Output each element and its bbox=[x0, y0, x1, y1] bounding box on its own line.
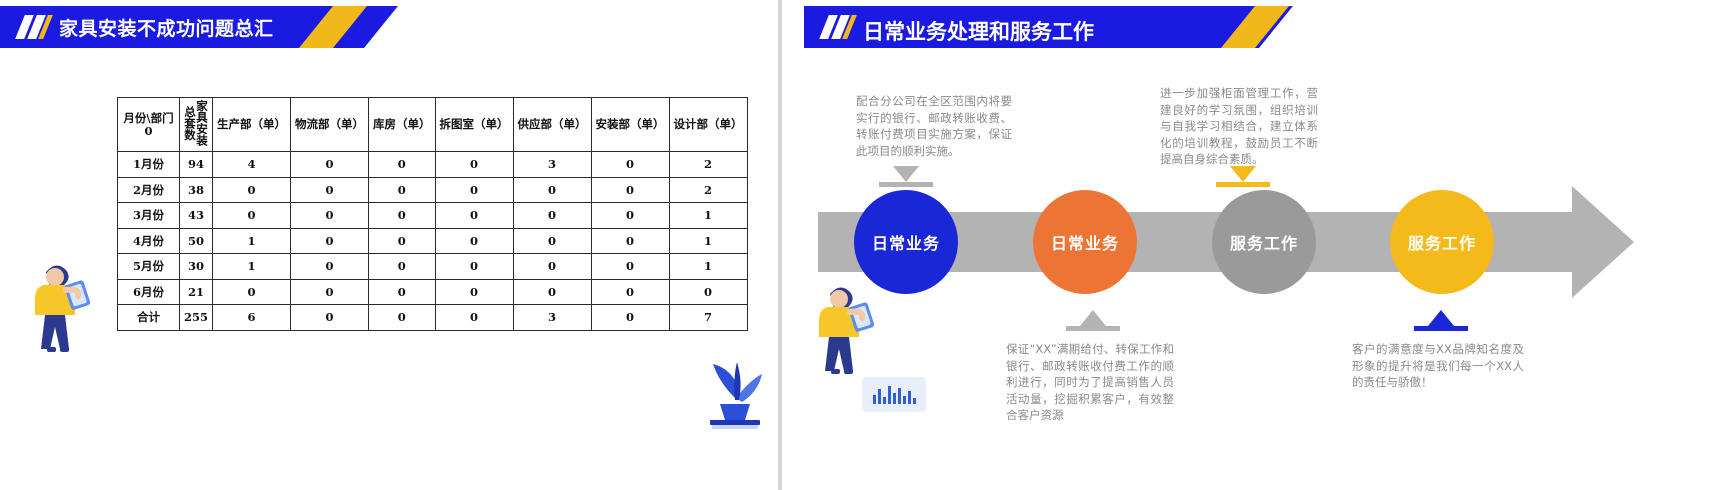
cell-production: 0 bbox=[213, 203, 291, 229]
cell-production: 0 bbox=[213, 279, 291, 305]
table-row: 4月份 50 1 0 0 0 0 0 1 bbox=[118, 228, 748, 254]
timeline-arrow-head bbox=[1572, 186, 1634, 298]
cell-logistics: 0 bbox=[291, 152, 369, 178]
cell-drafting: 0 bbox=[435, 254, 513, 280]
cell-drafting: 0 bbox=[435, 228, 513, 254]
slide-right: 日常业务处理和服务工作 日常业务 日常业务 服务工作 服务工作 配合分公司在全区… bbox=[778, 0, 1720, 490]
bar-chart-widget-icon bbox=[862, 377, 926, 412]
timeline-step-2-label: 日常业务 bbox=[1051, 230, 1119, 254]
cell-warehouse: 0 bbox=[369, 254, 436, 280]
cell-logistics: 0 bbox=[291, 305, 369, 331]
timeline-step-3-label: 服务工作 bbox=[1230, 230, 1298, 254]
cell-design: 2 bbox=[669, 177, 747, 203]
timeline-step-4-label: 服务工作 bbox=[1408, 230, 1476, 254]
timeline-step-1-label: 日常业务 bbox=[872, 230, 940, 254]
cell-production: 6 bbox=[213, 305, 291, 331]
furniture-issue-table: 月份\部门0 家具安装总套数 生产部（单） 物流部（单） 库房（单） 拆图室（单… bbox=[117, 97, 748, 331]
cell-supply: 0 bbox=[513, 254, 591, 280]
cell-total: 94 bbox=[180, 152, 213, 178]
cell-supply: 0 bbox=[513, 228, 591, 254]
row-label: 3月份 bbox=[118, 203, 180, 229]
cell-total: 50 bbox=[180, 228, 213, 254]
connector-step-1 bbox=[879, 166, 933, 187]
timeline-step-4[interactable]: 服务工作 bbox=[1390, 190, 1494, 294]
cell-supply: 0 bbox=[513, 203, 591, 229]
cell-production: 1 bbox=[213, 254, 291, 280]
cell-total: 43 bbox=[180, 203, 213, 229]
cell-drafting: 0 bbox=[435, 177, 513, 203]
timeline-step-2[interactable]: 日常业务 bbox=[1033, 190, 1137, 294]
row-label: 5月份 bbox=[118, 254, 180, 280]
cell-logistics: 0 bbox=[291, 177, 369, 203]
row-label: 2月份 bbox=[118, 177, 180, 203]
cell-installation: 0 bbox=[591, 305, 669, 331]
cell-warehouse: 0 bbox=[369, 305, 436, 331]
slide-left-title: 家具安装不成功问题总汇 bbox=[59, 14, 274, 41]
double-slash-logo-icon bbox=[18, 15, 52, 39]
connector-step-4 bbox=[1414, 310, 1468, 331]
th-total-sets: 家具安装总套数 bbox=[180, 98, 213, 152]
th-month-dept: 月份\部门0 bbox=[118, 98, 180, 152]
double-slash-logo-icon bbox=[822, 15, 856, 39]
cell-logistics: 0 bbox=[291, 228, 369, 254]
cell-design: 1 bbox=[669, 254, 747, 280]
potted-plant-illustration bbox=[700, 352, 770, 430]
note-bottom-left: 保证“XX”满期给付、转保工作和银行、邮政转账收付费工作的顺利进行，同时为了提高… bbox=[1006, 341, 1174, 424]
person-with-tablet-illustration bbox=[800, 274, 878, 394]
cell-installation: 0 bbox=[591, 279, 669, 305]
cell-drafting: 0 bbox=[435, 203, 513, 229]
row-label: 6月份 bbox=[118, 279, 180, 305]
timeline-step-3[interactable]: 服务工作 bbox=[1212, 190, 1316, 294]
cell-warehouse: 0 bbox=[369, 228, 436, 254]
cell-design: 7 bbox=[669, 305, 747, 331]
th-design: 设计部（单） bbox=[669, 98, 747, 152]
th-supply: 供应部（单） bbox=[513, 98, 591, 152]
cell-design: 0 bbox=[669, 279, 747, 305]
cell-drafting: 0 bbox=[435, 279, 513, 305]
cell-design: 1 bbox=[669, 228, 747, 254]
cell-supply: 3 bbox=[513, 152, 591, 178]
th-drafting: 拆图室（单） bbox=[435, 98, 513, 152]
cell-total: 30 bbox=[180, 254, 213, 280]
cell-installation: 0 bbox=[591, 203, 669, 229]
cell-logistics: 0 bbox=[291, 254, 369, 280]
cell-warehouse: 0 bbox=[369, 177, 436, 203]
note-top-right: 进一步加强柜面管理工作，营建良好的学习氛围，组织培训与自我学习相结合，建立体系化… bbox=[1160, 85, 1318, 168]
cell-total: 21 bbox=[180, 279, 213, 305]
cell-production: 0 bbox=[213, 177, 291, 203]
cell-total: 255 bbox=[180, 305, 213, 331]
cell-logistics: 0 bbox=[291, 203, 369, 229]
table-header-row: 月份\部门0 家具安装总套数 生产部（单） 物流部（单） 库房（单） 拆图室（单… bbox=[118, 98, 748, 152]
cell-supply: 0 bbox=[513, 177, 591, 203]
cell-installation: 0 bbox=[591, 228, 669, 254]
th-warehouse: 库房（单） bbox=[369, 98, 436, 152]
cell-design: 2 bbox=[669, 152, 747, 178]
slide-right-title: 日常业务处理和服务工作 bbox=[863, 17, 1163, 47]
cell-installation: 0 bbox=[591, 177, 669, 203]
slide-right-header-banner: 日常业务处理和服务工作 bbox=[804, 6, 1259, 48]
cell-production: 4 bbox=[213, 152, 291, 178]
cell-drafting: 0 bbox=[435, 152, 513, 178]
cell-drafting: 0 bbox=[435, 305, 513, 331]
th-production: 生产部（单） bbox=[213, 98, 291, 152]
cell-installation: 0 bbox=[591, 152, 669, 178]
cell-production: 1 bbox=[213, 228, 291, 254]
table-row: 1月份 94 4 0 0 0 3 0 2 bbox=[118, 152, 748, 178]
table-row: 5月份 30 1 0 0 0 0 0 1 bbox=[118, 254, 748, 280]
cell-installation: 0 bbox=[591, 254, 669, 280]
furniture-issue-table-wrapper: 月份\部门0 家具安装总套数 生产部（单） 物流部（单） 库房（单） 拆图室（单… bbox=[117, 97, 748, 331]
row-label: 4月份 bbox=[118, 228, 180, 254]
th-installation: 安装部（单） bbox=[591, 98, 669, 152]
table-row: 3月份 43 0 0 0 0 0 0 1 bbox=[118, 203, 748, 229]
cell-warehouse: 0 bbox=[369, 279, 436, 305]
person-with-tablet-illustration bbox=[16, 252, 94, 372]
table-row: 2月份 38 0 0 0 0 0 0 2 bbox=[118, 177, 748, 203]
table-body: 1月份 94 4 0 0 0 3 0 2 2月份 38 0 0 bbox=[118, 152, 748, 331]
connector-step-2 bbox=[1066, 310, 1120, 331]
th-logistics: 物流部（单） bbox=[291, 98, 369, 152]
cell-total: 38 bbox=[180, 177, 213, 203]
table-row: 6月份 21 0 0 0 0 0 0 0 bbox=[118, 279, 748, 305]
connector-step-3 bbox=[1216, 166, 1270, 187]
row-label: 1月份 bbox=[118, 152, 180, 178]
cell-warehouse: 0 bbox=[369, 152, 436, 178]
note-top-left: 配合分公司在全区范围内将要实行的银行、邮政转账收费、转账付费项目实施方案，保证此… bbox=[856, 93, 1012, 159]
two-slide-canvas: 家具安装不成功问题总汇 月份\部门0 家具安装总套数 生产部（单） 物流部（单）… bbox=[0, 0, 1720, 490]
note-bottom-right: 客户的满意度与XX品牌知名度及形象的提升将是我们每一个XX人的责任与骄傲！ bbox=[1352, 341, 1524, 391]
cell-logistics: 0 bbox=[291, 279, 369, 305]
cell-design: 1 bbox=[669, 203, 747, 229]
cell-warehouse: 0 bbox=[369, 203, 436, 229]
table-total-row: 合计 255 6 0 0 0 3 0 7 bbox=[118, 305, 748, 331]
slide-left: 家具安装不成功问题总汇 月份\部门0 家具安装总套数 生产部（单） 物流部（单）… bbox=[0, 0, 772, 490]
cell-supply: 0 bbox=[513, 279, 591, 305]
row-label-total: 合计 bbox=[118, 305, 180, 331]
cell-supply: 3 bbox=[513, 305, 591, 331]
